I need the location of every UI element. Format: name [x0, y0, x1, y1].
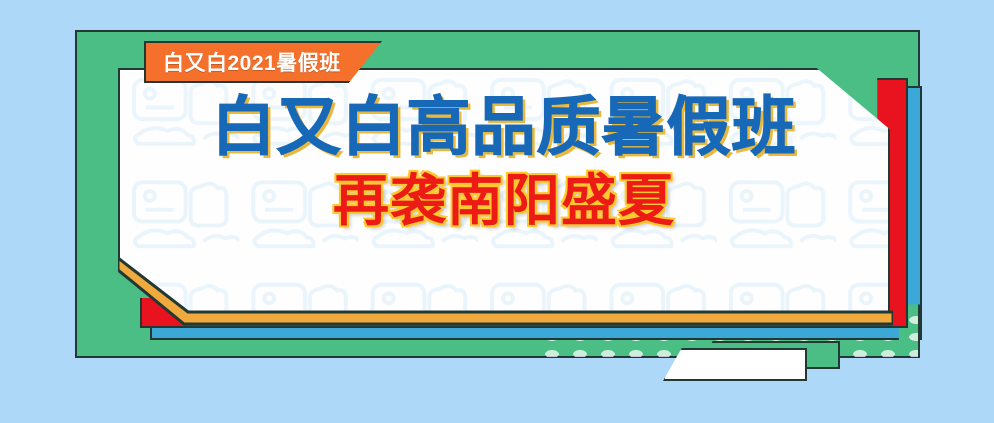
- course-badge: 白又白2021暑假班: [144, 41, 382, 83]
- course-badge-label: 白又白2021暑假班: [146, 47, 341, 77]
- orange-diagonal-ledge: [118, 250, 893, 328]
- white-tab-shape: [663, 348, 807, 381]
- poster-canvas: 白又白2021暑假班 白又白高品质暑假班 再袭南阳盛夏: [0, 0, 994, 423]
